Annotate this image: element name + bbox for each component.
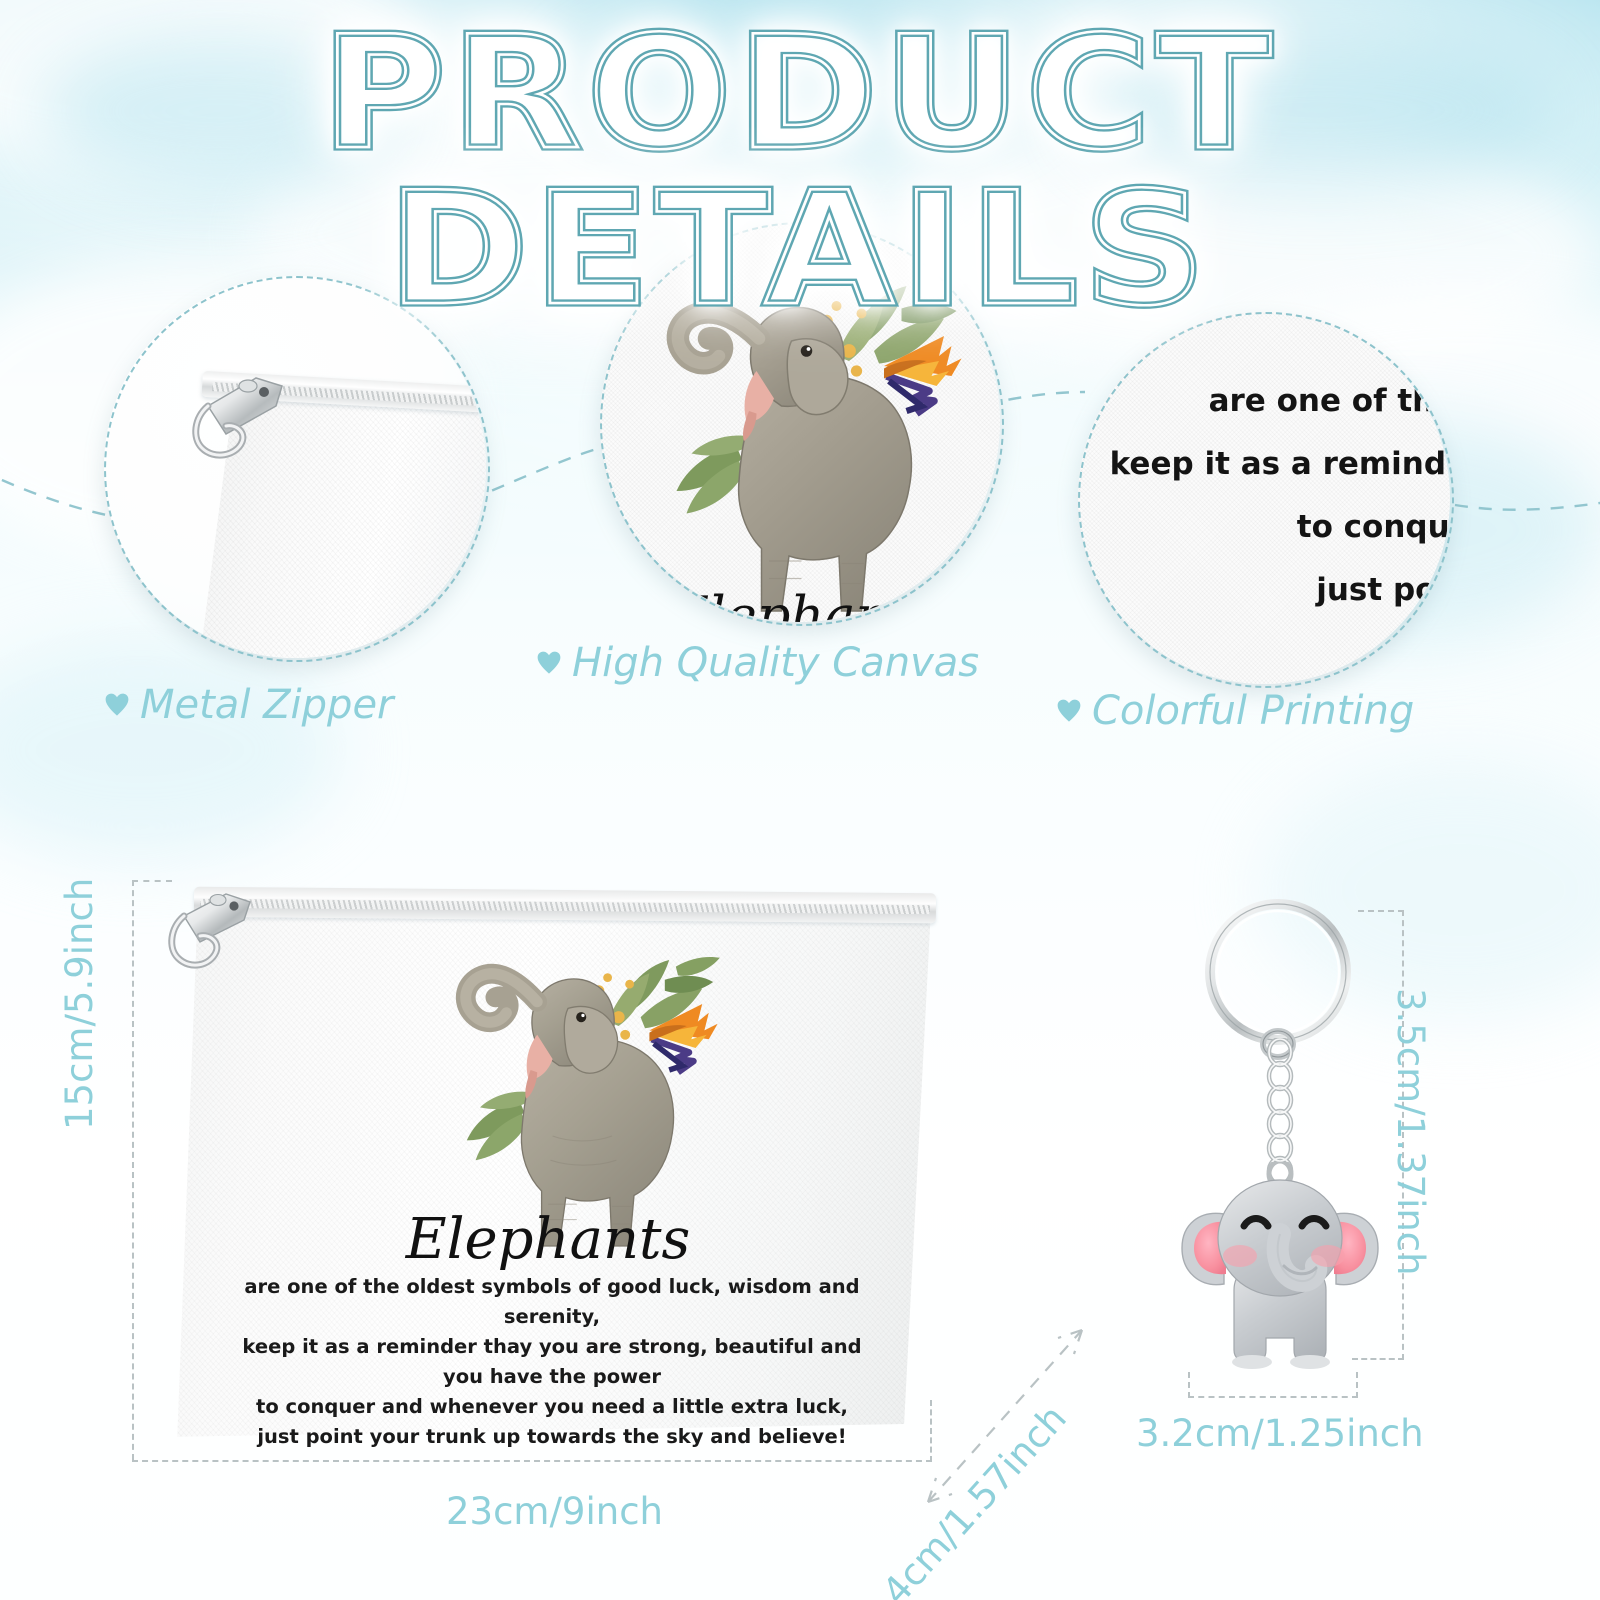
feature-circle-colorful-printing[interactable]: are one of the ol keep it as a reminder … [1078,312,1450,684]
elephant-charm-icon [1156,1162,1404,1382]
print-quote-block: are one of the oldest symbols of good lu… [232,1272,872,1452]
quote-line: just point your trunk up towards the sky… [232,1422,872,1452]
zoom-line: are one of the ol [1209,383,1450,419]
pouch-width-label: 23cm/9inch [446,1490,663,1533]
keychain-height-tick-bottom [1352,1358,1404,1360]
connector-right-edge [1455,500,1600,510]
keychain-width-label: 3.2cm/1.25inch [1136,1412,1424,1455]
zoom-line: just point [1316,572,1450,608]
pouch-height-tick-top [132,880,172,882]
printing-zoom-text: are one of the ol keep it as a reminder … [1078,370,1450,622]
elephant-keychain[interactable] [1150,890,1410,1380]
pouch-height-guide [132,880,134,1460]
feature-label-text: High Quality Canvas [572,640,979,686]
zoom-line: to conquer [1297,509,1450,545]
quote-line: keep it as a reminder thay you are stron… [232,1332,872,1392]
pouch-height-label: 15cm/5.9inch [58,878,101,1130]
keychain-width-tick-right [1356,1372,1358,1398]
print-script-partial: Elephants [670,586,938,623]
keychain-height-tick-top [1358,910,1404,912]
keychain-width-guide [1188,1396,1358,1398]
page-title-outline: PRODUCT DETAILS [0,16,1600,328]
zoom-line: keep it as a reminder t [1110,446,1450,482]
keychain-height-label: 3.5cm/1.37inch [1389,988,1432,1276]
heart-icon [536,650,562,676]
feature-label-text: Colorful Printing [1092,688,1414,734]
heart-icon [1056,698,1082,724]
product-pouch[interactable]: Elephants are one of the oldest symbols … [152,880,942,1440]
pouch-zipper-pull-icon [150,876,270,986]
print-script: Elephants [348,1212,748,1268]
split-key-ring-icon [1178,890,1378,1060]
quote-line: to conquer and whenever you need a littl… [232,1392,872,1422]
product-details-infographic: PRODUCT DETAILS PRODUCT DETAILS [0,0,1600,1600]
zipper-pull-icon [178,364,308,484]
feature-label-metal-zipper: Metal Zipper [104,682,394,728]
page-title: PRODUCT DETAILS [0,22,1600,322]
feature-label-high-quality-canvas: High Quality Canvas [536,640,979,686]
heart-icon [104,692,130,718]
connector-canvas-to-print [985,392,1085,405]
connector-zipper-to-canvas [470,448,600,500]
pouch-width-guide [132,1460,932,1462]
feature-label-text: Metal Zipper [140,682,394,728]
keychain-width-tick-left [1188,1372,1190,1398]
quote-line: are one of the oldest symbols of good lu… [232,1272,872,1332]
feature-label-colorful-printing: Colorful Printing [1056,688,1414,734]
